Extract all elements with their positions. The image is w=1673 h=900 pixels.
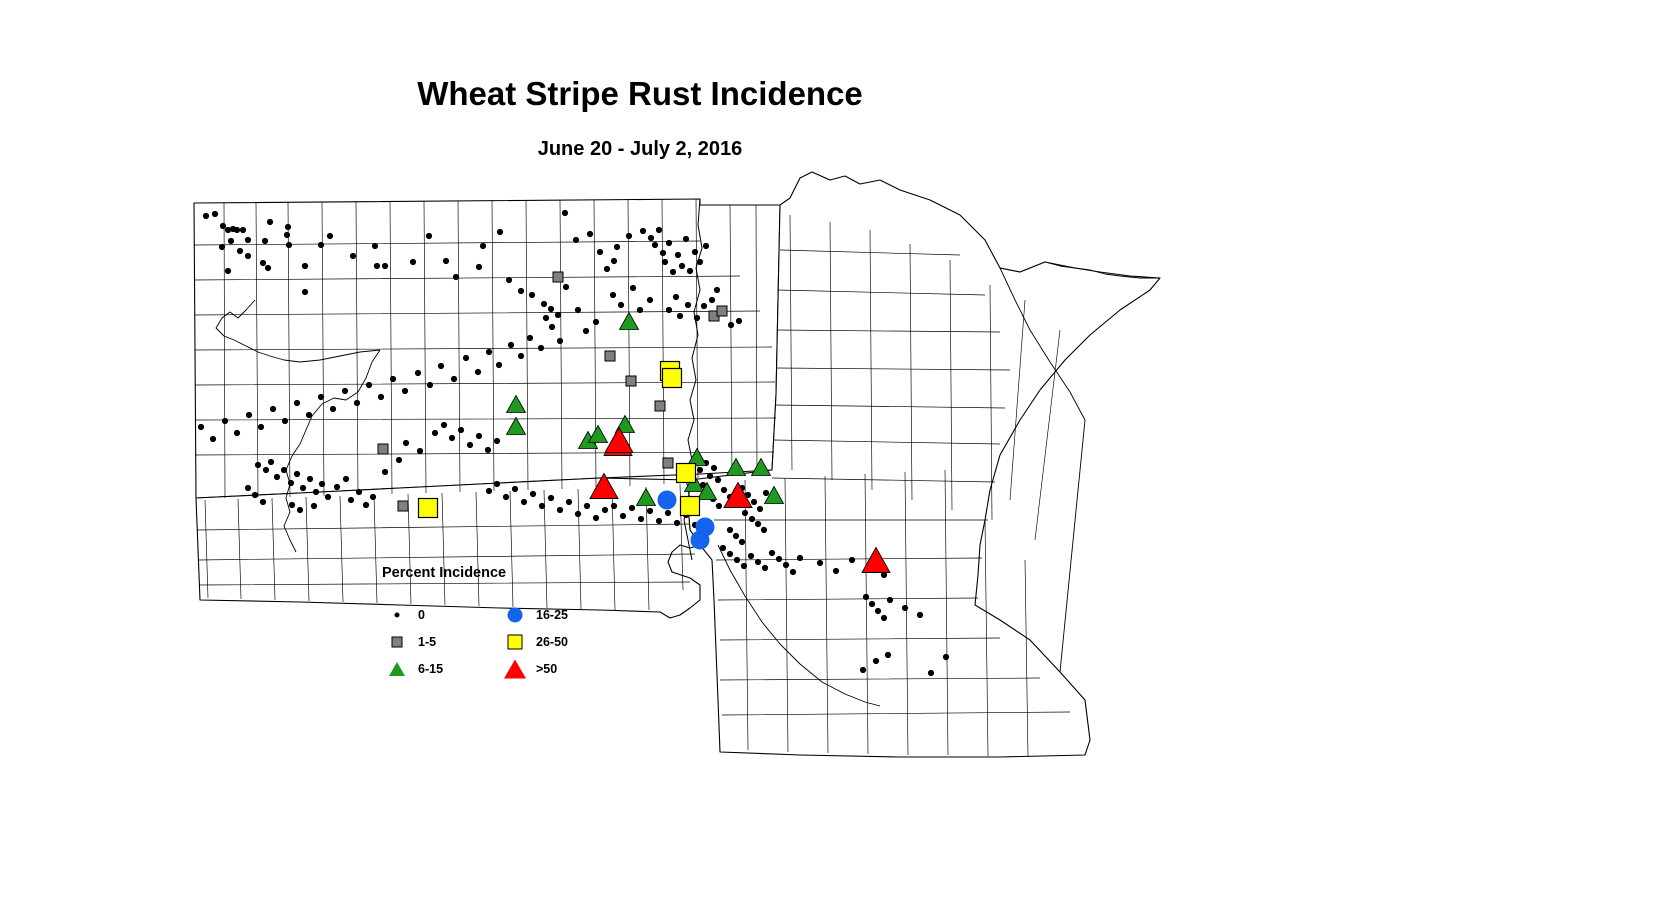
incidence-point-26-50: [681, 497, 700, 516]
incidence-point-0: [543, 315, 549, 321]
map-page: Wheat Stripe Rust Incidence June 20 - Ju…: [0, 0, 1673, 900]
incidence-point-0: [390, 376, 396, 382]
map-canvas: [0, 0, 1673, 900]
incidence-point-0: [374, 263, 380, 269]
incidence-point-0: [245, 253, 251, 259]
incidence-point-0: [563, 284, 569, 290]
incidence-point-0: [494, 481, 500, 487]
incidence-point-0: [666, 307, 672, 313]
incidence-point-0: [626, 233, 632, 239]
incidence-point-0: [709, 297, 715, 303]
incidence-point-0: [727, 527, 733, 533]
incidence-point-0: [928, 670, 934, 676]
incidence-point-0: [749, 516, 755, 522]
incidence-point-0: [262, 238, 268, 244]
incidence-point-0: [327, 233, 333, 239]
incidence-point-0: [555, 312, 561, 318]
incidence-point-0: [860, 667, 866, 673]
incidence-point-0: [222, 418, 228, 424]
incidence-point-0: [917, 612, 923, 618]
incidence-point-0: [220, 223, 226, 229]
incidence-point-0: [670, 269, 676, 275]
incidence-point-0: [265, 265, 271, 271]
incidence-point-0: [683, 236, 689, 242]
incidence-point-0: [656, 227, 662, 233]
incidence-point-0: [334, 484, 340, 490]
incidence-point-0: [584, 503, 590, 509]
incidence-point-0: [285, 224, 291, 230]
incidence-point-0: [652, 242, 658, 248]
incidence-point-0: [742, 510, 748, 516]
incidence-point-0: [677, 313, 683, 319]
incidence-point-0: [486, 488, 492, 494]
incidence-point-0: [496, 362, 502, 368]
incidence-point-0: [318, 394, 324, 400]
incidence-point-0: [630, 285, 636, 291]
incidence-point-0: [687, 268, 693, 274]
incidence-point-0: [741, 563, 747, 569]
incidence-point-0: [475, 369, 481, 375]
incidence-point-0: [350, 253, 356, 259]
incidence-point-0: [497, 229, 503, 235]
incidence-point-0: [885, 652, 891, 658]
incidence-point-1-5: [626, 376, 636, 386]
incidence-point-0: [776, 556, 782, 562]
incidence-point-0: [575, 307, 581, 313]
incidence-point-0: [675, 252, 681, 258]
incidence-point-0: [728, 322, 734, 328]
incidence-point-0: [288, 480, 294, 486]
incidence-point-0: [602, 507, 608, 513]
incidence-point-0: [443, 258, 449, 264]
incidence-point-0: [410, 259, 416, 265]
incidence-point-0: [210, 436, 216, 442]
incidence-point-0: [757, 506, 763, 512]
incidence-point-0: [557, 338, 563, 344]
incidence-point-16-25: [691, 531, 710, 550]
incidence-point-0: [610, 292, 616, 298]
incidence-point-0: [284, 232, 290, 238]
incidence-point-26-50: [677, 464, 696, 483]
legend-title: Percent Incidence: [382, 565, 506, 581]
incidence-point-0: [648, 235, 654, 241]
incidence-point-0: [396, 457, 402, 463]
legend: Percent Incidence 0 1-5 6-15 16-25: [382, 565, 622, 690]
incidence-point-0: [629, 505, 635, 511]
incidence-point-0: [721, 487, 727, 493]
incidence-point-0: [240, 227, 246, 233]
incidence-point-1-5: [553, 272, 563, 282]
incidence-point-0: [342, 388, 348, 394]
incidence-point-0: [432, 430, 438, 436]
incidence-point-0: [234, 227, 240, 233]
incidence-point-0: [707, 473, 713, 479]
incidence-point-0: [733, 533, 739, 539]
incidence-point-0: [486, 349, 492, 355]
incidence-point-0: [225, 268, 231, 274]
incidence-point-0: [548, 306, 554, 312]
incidence-point-26-50: [663, 369, 682, 388]
incidence-point-0: [258, 424, 264, 430]
incidence-point-0: [441, 422, 447, 428]
legend-item-label: 26-50: [536, 635, 568, 649]
incidence-point-0: [252, 492, 258, 498]
incidence-point-0: [736, 318, 742, 324]
incidence-point-0: [467, 442, 473, 448]
incidence-point-0: [638, 516, 644, 522]
incidence-point-1-5: [378, 444, 388, 454]
incidence-point-0: [348, 497, 354, 503]
incidence-point-0: [790, 569, 796, 575]
incidence-point-0: [294, 400, 300, 406]
incidence-point-0: [720, 545, 726, 551]
triangle-red-icon: [500, 658, 530, 680]
legend-column-right: 16-25 26-50 >50: [500, 601, 568, 682]
incidence-point-0: [881, 615, 887, 621]
legend-item-0[interactable]: 0: [382, 601, 443, 628]
legend-item-label: 0: [418, 608, 425, 622]
incidence-point-0: [245, 485, 251, 491]
incidence-point-0: [618, 302, 624, 308]
legend-item-label: 1-5: [418, 635, 436, 649]
incidence-point-0: [697, 467, 703, 473]
incidence-point-0: [313, 489, 319, 495]
incidence-point-0: [372, 243, 378, 249]
incidence-point-0: [219, 244, 225, 250]
incidence-point-0: [797, 555, 803, 561]
incidence-point-0: [660, 250, 666, 256]
incidence-point-0: [548, 495, 554, 501]
incidence-point-0: [583, 328, 589, 334]
incidence-point-0: [593, 515, 599, 521]
incidence-point-0: [685, 302, 691, 308]
incidence-point-0: [727, 551, 733, 557]
incidence-point-0: [245, 237, 251, 243]
square-yellow-icon: [500, 631, 530, 653]
incidence-point-0: [694, 315, 700, 321]
incidence-point-0: [666, 240, 672, 246]
incidence-point-0: [640, 228, 646, 234]
incidence-point-0: [769, 550, 775, 556]
incidence-point-0: [701, 303, 707, 309]
incidence-point-0: [597, 249, 603, 255]
incidence-point-0: [451, 376, 457, 382]
incidence-point-0: [873, 658, 879, 664]
incidence-point-0: [549, 324, 555, 330]
incidence-point-0: [674, 520, 680, 526]
incidence-point-1-5: [655, 401, 665, 411]
incidence-point-0: [427, 382, 433, 388]
legend-column-left: 0 1-5 6-15: [382, 601, 443, 682]
incidence-point-0: [403, 440, 409, 446]
incidence-point-0: [382, 469, 388, 475]
incidence-point-0: [716, 503, 722, 509]
incidence-point-0: [476, 264, 482, 270]
incidence-point-0: [417, 448, 423, 454]
incidence-point-0: [711, 465, 717, 471]
incidence-point-0: [869, 601, 875, 607]
incidence-point-0: [506, 277, 512, 283]
incidence-point-0: [311, 503, 317, 509]
incidence-point-0: [343, 476, 349, 482]
incidence-point-0: [286, 242, 292, 248]
incidence-point-0: [734, 557, 740, 563]
incidence-point-0: [363, 502, 369, 508]
incidence-point-0: [438, 363, 444, 369]
incidence-point-0: [306, 412, 312, 418]
legend-item-label: 6-15: [418, 662, 443, 676]
incidence-point-0: [449, 435, 455, 441]
incidence-point-0: [453, 274, 459, 280]
incidence-point-0: [508, 342, 514, 348]
incidence-point-0: [503, 494, 509, 500]
incidence-point-0: [562, 210, 568, 216]
legend-item-16-25[interactable]: 16-25: [500, 601, 568, 628]
incidence-point-0: [234, 430, 240, 436]
incidence-point-0: [198, 424, 204, 430]
incidence-point-0: [647, 297, 653, 303]
incidence-point-0: [366, 382, 372, 388]
incidence-point-0: [566, 499, 572, 505]
incidence-point-0: [673, 294, 679, 300]
incidence-point-0: [833, 568, 839, 574]
incidence-point-0: [289, 502, 295, 508]
incidence-point-0: [458, 427, 464, 433]
incidence-point-0: [518, 288, 524, 294]
legend-item-1-5[interactable]: 1-5: [382, 628, 443, 655]
incidence-point-0: [463, 355, 469, 361]
incidence-point-0: [302, 289, 308, 295]
incidence-point-0: [228, 238, 234, 244]
incidence-point-0: [212, 211, 218, 217]
dot-black-icon: [382, 604, 412, 626]
incidence-point-26-50: [419, 499, 438, 518]
incidence-point-0: [270, 406, 276, 412]
incidence-point-0: [354, 400, 360, 406]
incidence-point-0: [604, 266, 610, 272]
incidence-point-0: [751, 499, 757, 505]
incidence-point-0: [268, 459, 274, 465]
triangle-green-icon: [382, 658, 412, 680]
incidence-point-1-5: [398, 501, 408, 511]
legend-item-6-15[interactable]: 6-15: [382, 655, 443, 682]
incidence-point-0: [763, 490, 769, 496]
incidence-point-0: [593, 319, 599, 325]
incidence-point-0: [739, 539, 745, 545]
incidence-point-0: [370, 494, 376, 500]
incidence-point-0: [297, 507, 303, 513]
incidence-point-0: [538, 345, 544, 351]
incidence-point-0: [762, 565, 768, 571]
incidence-point-0: [755, 559, 761, 565]
legend-item-26-50[interactable]: 26-50: [500, 628, 568, 655]
incidence-point-0: [255, 462, 261, 468]
incidence-point-0: [656, 518, 662, 524]
incidence-point-0: [402, 388, 408, 394]
legend-item-over-50[interactable]: >50: [500, 655, 568, 682]
incidence-point-0: [761, 527, 767, 533]
incidence-point-0: [518, 353, 524, 359]
incidence-point-0: [281, 467, 287, 473]
incidence-point-0: [494, 438, 500, 444]
incidence-point-0: [541, 301, 547, 307]
incidence-point-0: [307, 476, 313, 482]
legend-item-label: 16-25: [536, 608, 568, 622]
incidence-point-0: [263, 467, 269, 473]
incidence-point-0: [637, 307, 643, 313]
incidence-point-0: [260, 499, 266, 505]
incidence-point-0: [282, 418, 288, 424]
incidence-point-0: [382, 263, 388, 269]
incidence-point-0: [512, 486, 518, 492]
incidence-point-0: [575, 511, 581, 517]
incidence-point-0: [620, 513, 626, 519]
incidence-point-0: [530, 491, 536, 497]
incidence-point-0: [783, 562, 789, 568]
incidence-point-0: [378, 394, 384, 400]
incidence-point-0: [267, 219, 273, 225]
incidence-point-0: [849, 557, 855, 563]
incidence-point-0: [587, 231, 593, 237]
incidence-point-0: [679, 263, 685, 269]
incidence-point-0: [692, 249, 698, 255]
incidence-point-0: [817, 560, 823, 566]
incidence-point-0: [294, 471, 300, 477]
incidence-point-0: [476, 433, 482, 439]
incidence-point-0: [573, 237, 579, 243]
incidence-point-0: [356, 489, 362, 495]
incidence-point-0: [697, 259, 703, 265]
incidence-point-0: [527, 335, 533, 341]
incidence-point-0: [557, 507, 563, 513]
incidence-point-0: [755, 521, 761, 527]
incidence-point-0: [715, 477, 721, 483]
incidence-point-0: [611, 258, 617, 264]
incidence-point-0: [330, 406, 336, 412]
incidence-point-0: [318, 242, 324, 248]
incidence-point-0: [529, 292, 535, 298]
incidence-point-1-5: [605, 351, 615, 361]
incidence-point-0: [647, 508, 653, 514]
incidence-point-0: [521, 499, 527, 505]
incidence-point-0: [703, 243, 709, 249]
incidence-point-0: [875, 608, 881, 614]
incidence-point-1-5: [663, 458, 673, 468]
incidence-point-0: [748, 553, 754, 559]
circle-blue-icon: [500, 604, 530, 626]
incidence-point-0: [246, 412, 252, 418]
incidence-point-0: [203, 213, 209, 219]
incidence-point-0: [260, 260, 266, 266]
incidence-point-0: [274, 474, 280, 480]
incidence-point-0: [480, 243, 486, 249]
incidence-point-16-25: [658, 491, 677, 510]
incidence-point-0: [485, 447, 491, 453]
incidence-point-0: [611, 503, 617, 509]
incidence-point-0: [319, 481, 325, 487]
incidence-point-0: [415, 370, 421, 376]
incidence-point-0: [665, 510, 671, 516]
square-gray-icon: [382, 631, 412, 653]
incidence-point-0: [863, 594, 869, 600]
incidence-point-0: [662, 259, 668, 265]
incidence-point-1-5: [717, 306, 727, 316]
legend-item-label: >50: [536, 662, 557, 676]
incidence-point-0: [300, 485, 306, 491]
incidence-point-0: [714, 287, 720, 293]
incidence-point-0: [902, 605, 908, 611]
incidence-point-0: [614, 244, 620, 250]
incidence-point-0: [539, 503, 545, 509]
incidence-point-0: [237, 248, 243, 254]
incidence-point-0: [887, 597, 893, 603]
incidence-point-0: [426, 233, 432, 239]
incidence-point-0: [325, 494, 331, 500]
incidence-point-0: [943, 654, 949, 660]
incidence-point-0: [302, 263, 308, 269]
